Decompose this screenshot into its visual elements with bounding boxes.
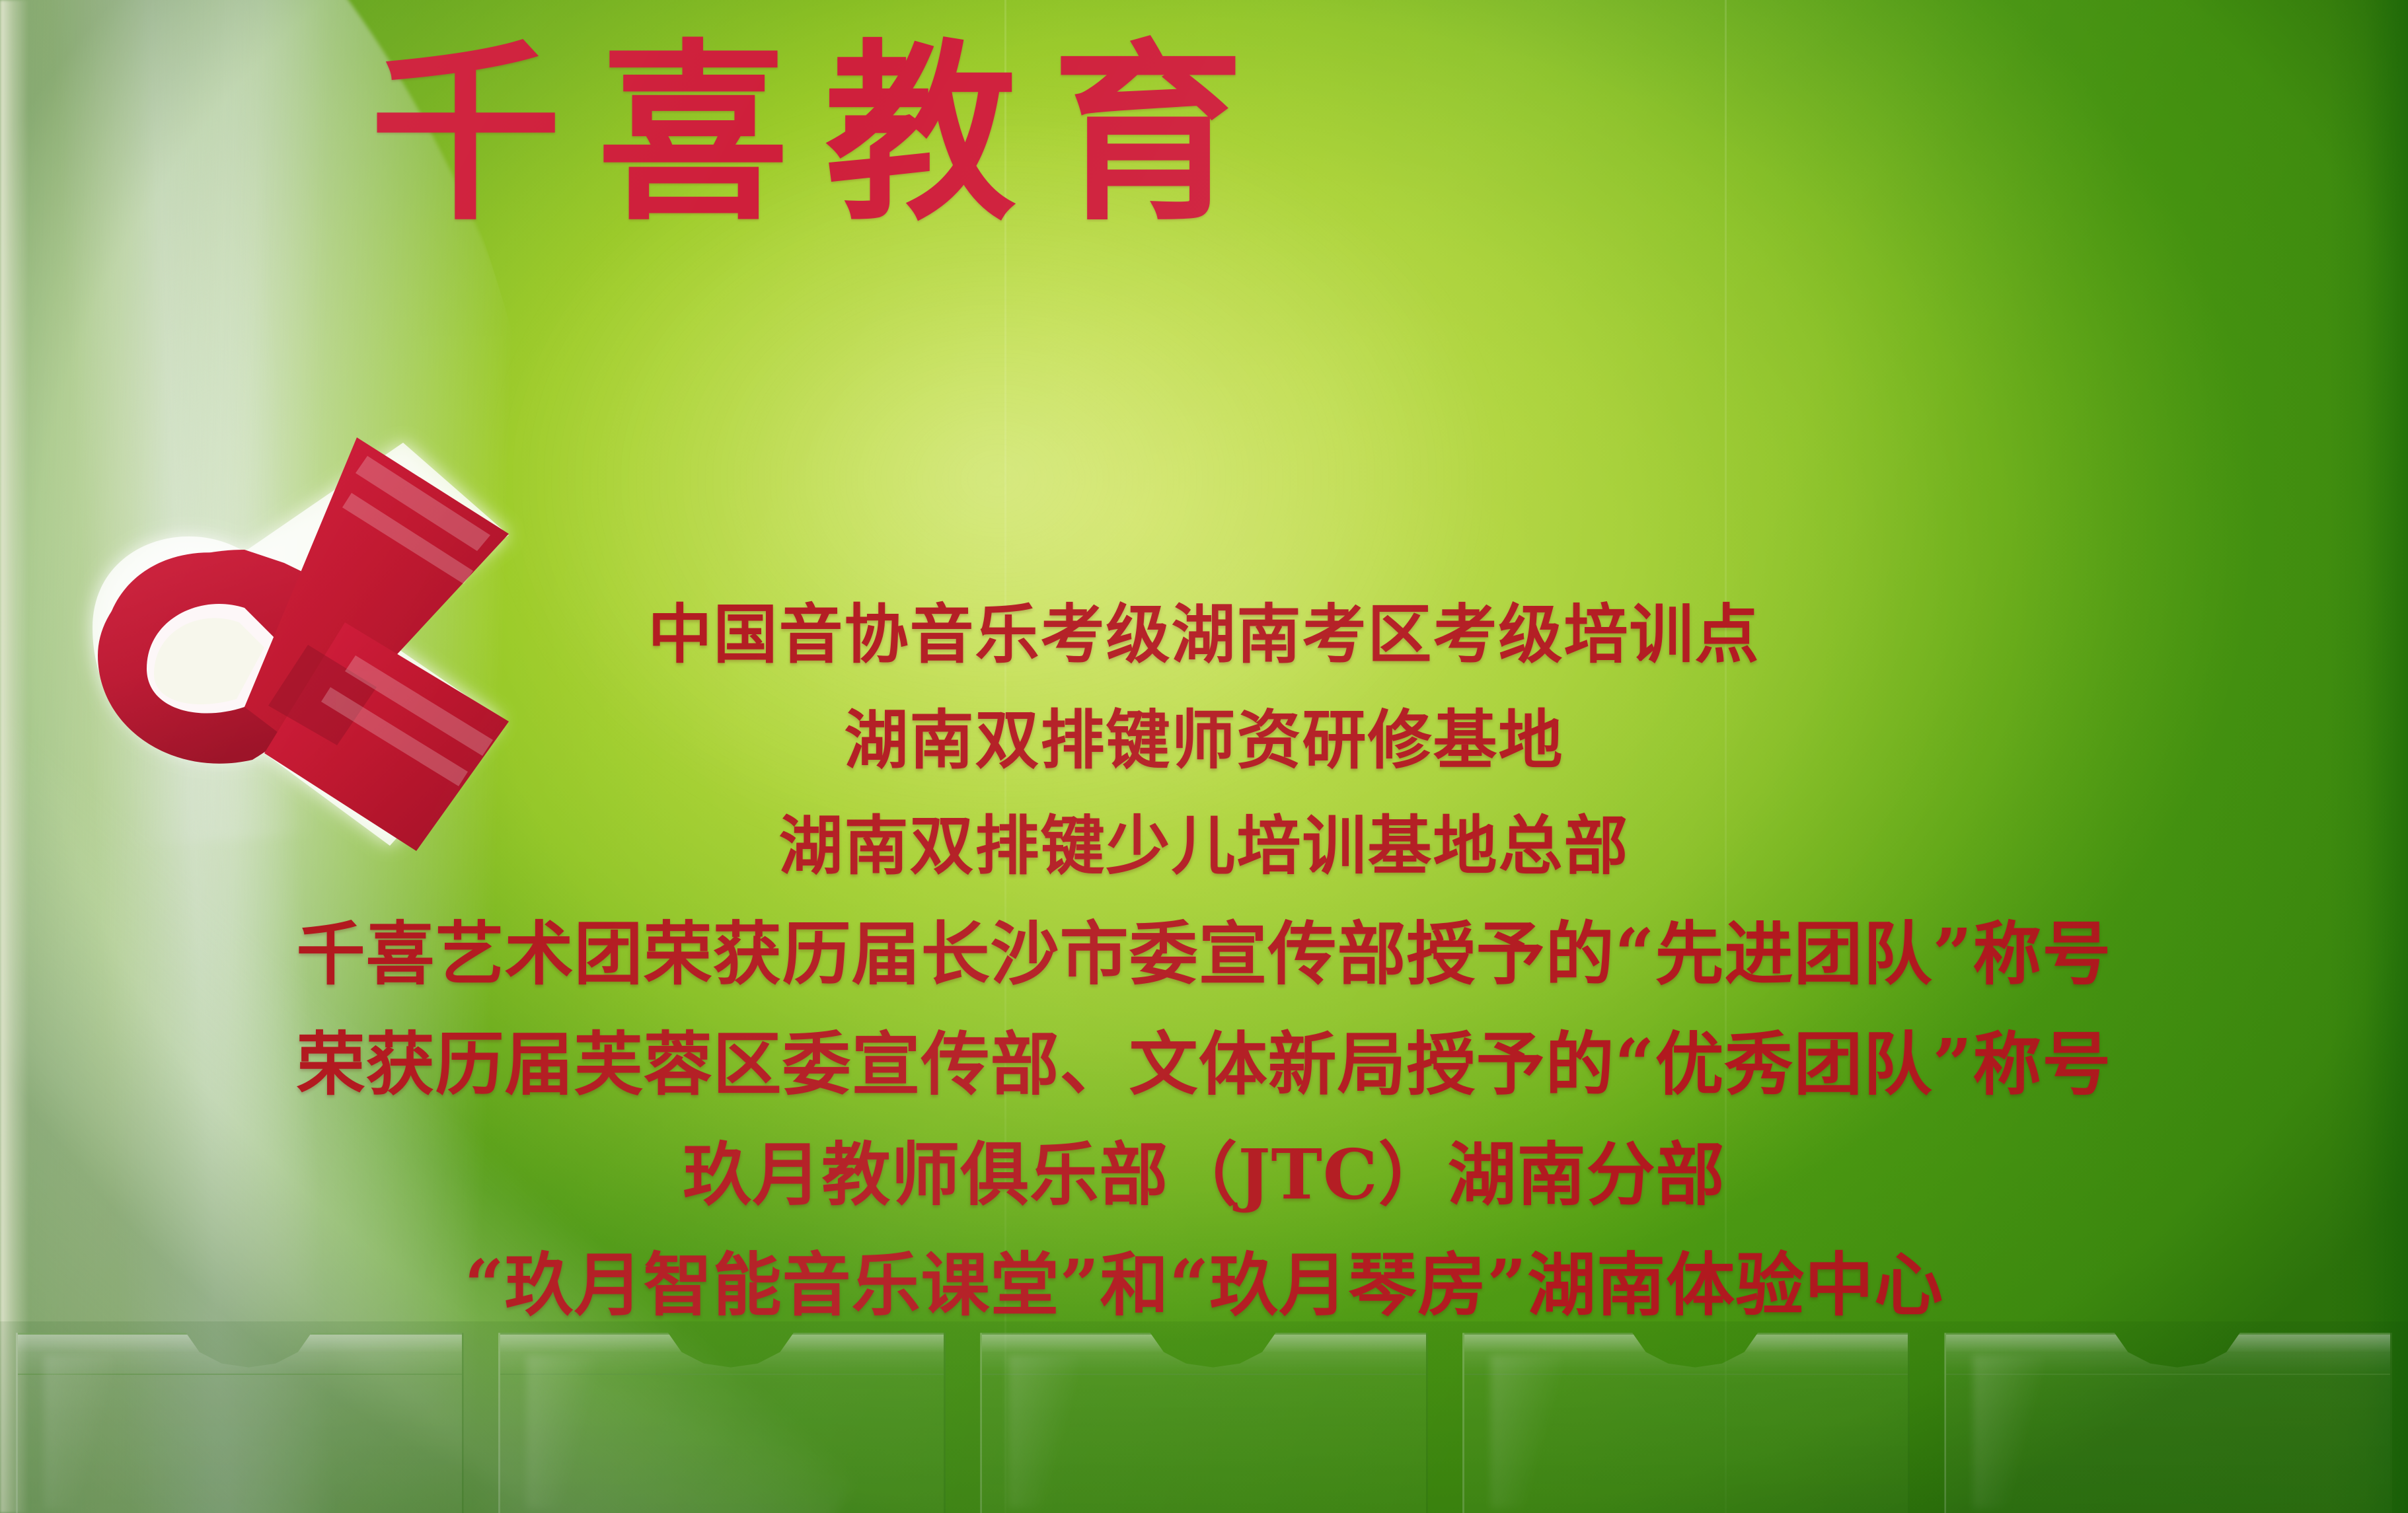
credential-list: 中国音协音乐考级湖南考区考级培训点 湖南双排键师资研修基地 湖南双排键少儿培训基… [0,581,2408,1340]
pocket-lip [1464,1333,1908,1375]
acrylic-brochure-pocket[interactable] [16,1321,464,1513]
acrylic-brochure-pocket[interactable] [980,1321,1428,1513]
brochure-pocket-row [0,1321,2408,1513]
acrylic-brochure-pocket[interactable] [1944,1321,2392,1513]
page-title: 千喜教育 [370,36,2115,235]
credential-line: 荣获历届芙蓉区委宣传部、文体新局授予的“优秀团队”称号 [0,1009,2408,1119]
pocket-lip [982,1333,1426,1375]
pocket-lip [500,1333,944,1375]
acrylic-brochure-pocket[interactable] [1462,1321,1910,1513]
credential-line: 玖月教师俱乐部（JTC）湖南分部 [0,1119,2408,1230]
credential-line: 千喜艺术团荣获历届长沙市委宣传部授予的“先进团队”称号 [0,899,2408,1009]
credential-line: 湖南双排键少儿培训基地总部 [0,793,2408,899]
acrylic-brochure-pocket[interactable] [498,1321,946,1513]
pocket-lip [1946,1333,2390,1375]
credential-line: 中国音协音乐考级湖南考区考级培训点 [0,581,2408,687]
wall-signboard: 千喜教育 中国音协音乐考级湖南考区考级培训点 湖南双排键师资研修基地 湖南双排键… [0,0,2408,1513]
pocket-lip [18,1333,462,1375]
credential-line: 湖南双排键师资研修基地 [0,687,2408,793]
